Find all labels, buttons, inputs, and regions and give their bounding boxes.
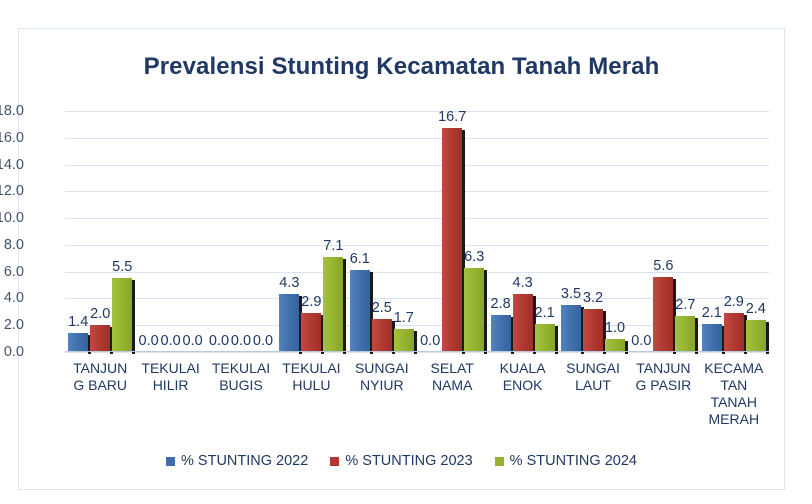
bar-shadow bbox=[555, 326, 558, 354]
bar-value-label: 5.5 bbox=[112, 259, 132, 275]
bar-fill bbox=[746, 320, 766, 352]
bar-shadow bbox=[766, 322, 769, 354]
bar-value-label: 3.5 bbox=[561, 286, 581, 302]
category-label-line: HILIR bbox=[132, 377, 210, 394]
plot-area: 1.42.05.50.00.00.00.00.00.04.32.97.16.12… bbox=[65, 111, 769, 352]
gridline bbox=[65, 191, 769, 192]
bar-fill bbox=[605, 339, 625, 352]
bar-fill bbox=[301, 313, 321, 352]
bar-fill bbox=[464, 268, 484, 352]
bar bbox=[702, 324, 722, 352]
bar-value-label: 2.8 bbox=[491, 296, 511, 312]
bar-value-label: 2.9 bbox=[724, 294, 744, 310]
category-label-line: NAMA bbox=[413, 377, 491, 394]
x-axis-category-label: TEKULAIHILIR bbox=[132, 360, 210, 394]
bar-value-label: 4.3 bbox=[279, 275, 299, 291]
bar bbox=[90, 325, 110, 352]
bar-fill bbox=[279, 294, 299, 352]
bar bbox=[442, 128, 462, 352]
y-axis-tick-label: 0.0 bbox=[0, 344, 32, 360]
bar bbox=[605, 339, 625, 352]
bar-fill bbox=[513, 294, 533, 352]
category-label-line: TANAH bbox=[695, 394, 773, 411]
legend-item[interactable]: % STUNTING 2022 bbox=[166, 453, 308, 469]
bar bbox=[724, 313, 744, 352]
bar bbox=[372, 319, 392, 352]
bar-shadow bbox=[695, 318, 698, 354]
bar bbox=[301, 313, 321, 352]
legend-swatch-icon bbox=[495, 457, 504, 466]
bar-value-label: 0.0 bbox=[209, 333, 229, 349]
legend-label: % STUNTING 2023 bbox=[345, 453, 472, 469]
bar bbox=[653, 277, 673, 352]
x-axis-category-label: TEKULAIBUGIS bbox=[202, 360, 280, 394]
bar-fill bbox=[702, 324, 722, 352]
bar bbox=[68, 333, 88, 352]
gridline bbox=[65, 352, 769, 353]
bar-fill bbox=[653, 277, 673, 352]
y-axis-tick-label: 4.0 bbox=[0, 290, 32, 306]
bar-value-label: 5.6 bbox=[653, 258, 673, 274]
x-axis-category-label: TANJUNG PASIR bbox=[624, 360, 702, 394]
bar bbox=[491, 315, 511, 352]
category-label-line: SUNGAI bbox=[554, 360, 632, 377]
bar-fill bbox=[561, 305, 581, 352]
bar-shadow bbox=[132, 280, 135, 354]
category-label-line: ENOK bbox=[484, 377, 562, 394]
x-axis-line bbox=[65, 351, 769, 352]
bar-value-label: 0.0 bbox=[420, 333, 440, 349]
bar-value-label: 2.0 bbox=[90, 306, 110, 322]
bar-value-label: 0.0 bbox=[631, 333, 651, 349]
bar-fill bbox=[112, 278, 132, 352]
bar-value-label: 2.1 bbox=[702, 305, 722, 321]
bar-value-label: 1.4 bbox=[68, 314, 88, 330]
x-axis-category-label: TEKULAIHULU bbox=[272, 360, 350, 394]
chart-legend: % STUNTING 2022% STUNTING 2023% STUNTING… bbox=[19, 453, 784, 469]
category-label-line: TEKULAI bbox=[132, 360, 210, 377]
bar-fill bbox=[675, 316, 695, 352]
bar bbox=[535, 324, 555, 352]
bar-fill bbox=[372, 319, 392, 352]
legend-label: % STUNTING 2022 bbox=[181, 453, 308, 469]
legend-swatch-icon bbox=[166, 457, 175, 466]
bar bbox=[350, 270, 370, 352]
x-axis-category-label: SUNGAILAUT bbox=[554, 360, 632, 394]
gridline bbox=[65, 138, 769, 139]
category-label-line: SUNGAI bbox=[343, 360, 421, 377]
bar-value-label: 2.4 bbox=[746, 301, 766, 317]
bar bbox=[279, 294, 299, 352]
category-label-line: TEKULAI bbox=[272, 360, 350, 377]
bar-fill bbox=[442, 128, 462, 352]
x-axis-category-label: SUNGAINYIUR bbox=[343, 360, 421, 394]
bar-value-label: 0.0 bbox=[231, 333, 251, 349]
bar-value-label: 6.3 bbox=[464, 249, 484, 265]
category-label-line: G BARU bbox=[61, 377, 139, 394]
bar-fill bbox=[323, 257, 343, 352]
y-axis-tick-label: 2.0 bbox=[0, 317, 32, 333]
legend-item[interactable]: % STUNTING 2023 bbox=[330, 453, 472, 469]
bar-value-label: 1.0 bbox=[605, 320, 625, 336]
bar bbox=[112, 278, 132, 352]
category-label-line: SELAT bbox=[413, 360, 491, 377]
bar bbox=[675, 316, 695, 352]
y-axis-tick-label: 12.0 bbox=[0, 183, 32, 199]
category-label-line: TANJUN bbox=[61, 360, 139, 377]
bar-value-label: 7.1 bbox=[323, 238, 343, 254]
bar-value-label: 2.7 bbox=[675, 297, 695, 313]
bar bbox=[746, 320, 766, 352]
bar-value-label: 1.7 bbox=[394, 310, 414, 326]
bar-shadow bbox=[343, 259, 346, 354]
chart-card: Prevalensi Stunting Kecamatan Tanah Mera… bbox=[18, 28, 785, 490]
bar-value-label: 4.3 bbox=[513, 275, 533, 291]
category-label-line: MERAH bbox=[695, 411, 773, 428]
gridline bbox=[65, 245, 769, 246]
category-label-line: LAUT bbox=[554, 377, 632, 394]
legend-label: % STUNTING 2024 bbox=[510, 453, 637, 469]
y-axis-tick-label: 10.0 bbox=[0, 210, 32, 226]
x-axis-category-label: TANJUNG BARU bbox=[61, 360, 139, 394]
bar bbox=[561, 305, 581, 352]
bar-value-label: 0.0 bbox=[139, 333, 159, 349]
bar bbox=[583, 309, 603, 352]
bar-fill bbox=[68, 333, 88, 352]
bar-value-label: 0.0 bbox=[253, 333, 273, 349]
bar-fill bbox=[583, 309, 603, 352]
bar-fill bbox=[90, 325, 110, 352]
bar-value-label: 6.1 bbox=[350, 251, 370, 267]
bar bbox=[323, 257, 343, 352]
bar bbox=[394, 329, 414, 352]
x-axis-category-label: KECAMATANTANAHMERAH bbox=[695, 360, 773, 428]
y-axis-tick-label: 14.0 bbox=[0, 157, 32, 173]
bar-value-label: 3.2 bbox=[583, 290, 603, 306]
x-axis-category-label: KUALAENOK bbox=[484, 360, 562, 394]
bar-fill bbox=[394, 329, 414, 352]
bar-fill bbox=[491, 315, 511, 352]
bar-shadow bbox=[484, 270, 487, 354]
category-label-line: TAN bbox=[695, 377, 773, 394]
category-label-line: NYIUR bbox=[343, 377, 421, 394]
category-label-line: KECAMA bbox=[695, 360, 773, 377]
bar-fill bbox=[350, 270, 370, 352]
legend-item[interactable]: % STUNTING 2024 bbox=[495, 453, 637, 469]
category-label-line: BUGIS bbox=[202, 377, 280, 394]
category-label-line: G PASIR bbox=[624, 377, 702, 394]
bar-value-label: 2.1 bbox=[535, 305, 555, 321]
legend-swatch-icon bbox=[330, 457, 339, 466]
bar-value-label: 16.7 bbox=[438, 109, 466, 125]
bar-value-label: 0.0 bbox=[183, 333, 203, 349]
category-label-line: KUALA bbox=[484, 360, 562, 377]
y-axis-tick-label: 6.0 bbox=[0, 264, 32, 280]
bar-value-label: 0.0 bbox=[161, 333, 181, 349]
gridline bbox=[65, 218, 769, 219]
y-axis-tick-label: 18.0 bbox=[0, 103, 32, 119]
x-axis-category-label: SELATNAMA bbox=[413, 360, 491, 394]
category-label-line: HULU bbox=[272, 377, 350, 394]
bar-fill bbox=[724, 313, 744, 352]
bar-value-label: 2.5 bbox=[372, 300, 392, 316]
plot-wrapper: 18.016.014.012.010.08.06.04.02.00.0 1.42… bbox=[19, 29, 786, 491]
bar-value-label: 2.9 bbox=[301, 294, 321, 310]
bar bbox=[513, 294, 533, 352]
gridline bbox=[65, 165, 769, 166]
category-label-line: TEKULAI bbox=[202, 360, 280, 377]
y-axis-tick-label: 8.0 bbox=[0, 237, 32, 253]
gridline bbox=[65, 111, 769, 112]
y-axis-tick-label: 16.0 bbox=[0, 130, 32, 146]
bar bbox=[464, 268, 484, 352]
bar-fill bbox=[535, 324, 555, 352]
category-label-line: TANJUN bbox=[624, 360, 702, 377]
